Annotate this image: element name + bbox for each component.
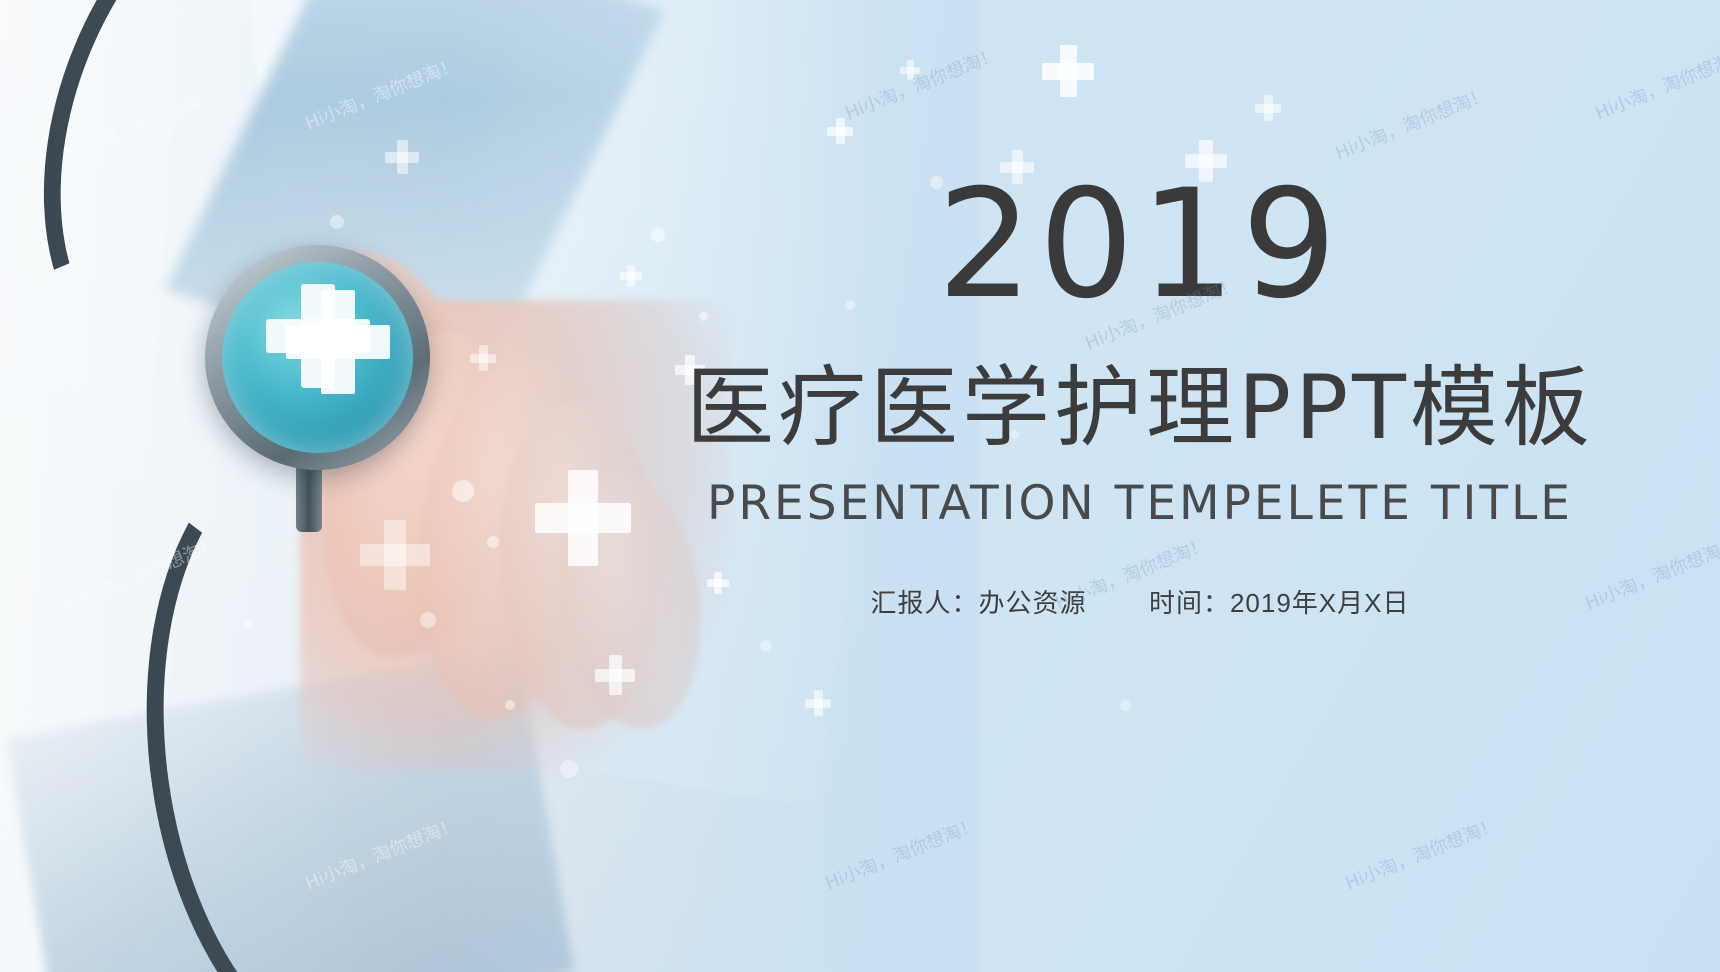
bokeh-dot <box>1120 700 1131 711</box>
title-block: 2019 医疗医学护理PPT模板 PRESENTATION TEMPELETE … <box>620 170 1660 620</box>
subtitle-english: PRESENTATION TEMPELETE TITLE <box>620 476 1660 531</box>
date-label: 时间：2019年X月X日 <box>1149 583 1410 620</box>
meta-line: 汇报人：办公资源 时间：2019年X月X日 <box>620 583 1660 620</box>
year-heading: 2019 <box>620 170 1660 320</box>
cross-arm <box>1060 45 1077 97</box>
watermark-text: Hi小淘，淘你想淘！ <box>1331 81 1491 166</box>
cross-arm <box>1264 95 1273 121</box>
medical-cross-icon <box>1255 95 1281 121</box>
watermark-text: Hi小淘，淘你想淘！ <box>1591 41 1720 126</box>
presentation-slide: 2019 医疗医学护理PPT模板 PRESENTATION TEMPELETE … <box>0 0 1720 972</box>
cross-arm <box>1042 63 1094 80</box>
medical-cross-icon <box>1042 45 1094 97</box>
cross-arm <box>1255 104 1281 113</box>
presenter-label: 汇报人：办公资源 <box>870 583 1086 620</box>
page-title: 医疗医学护理PPT模板 <box>620 362 1660 454</box>
watermark-text: Hi小淘，淘你想淘！ <box>1341 811 1501 896</box>
